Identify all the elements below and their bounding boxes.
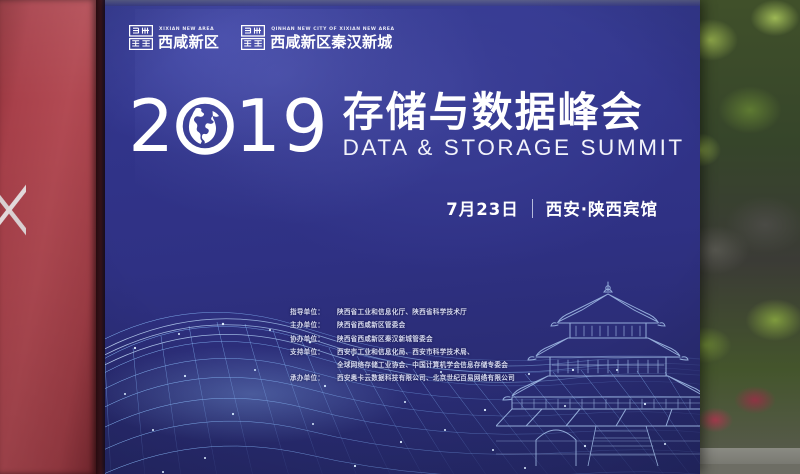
logo-chinese-label: 西咸新区秦汉新城 bbox=[270, 35, 394, 50]
year-digit-suffix: 19 bbox=[235, 94, 329, 159]
red-wall bbox=[0, 0, 96, 474]
main-title-block: 2 19 存储与数据峰会 DATA & STORA bbox=[105, 92, 700, 161]
title-chinese: 存储与数据峰会 bbox=[343, 92, 644, 134]
credit-label: 指导单位： bbox=[290, 306, 337, 319]
sponsor-logo-row: XIXIAN NEW AREA 西咸新区 QINHAN NEW CITY OF … bbox=[129, 25, 395, 50]
credit-value: 陕西省工业和信息化厅、陕西省科学技术厅 bbox=[337, 306, 467, 319]
title-english: DATA & STORAGE SUMMIT bbox=[343, 135, 685, 161]
credit-label: 主办单位： bbox=[290, 319, 337, 332]
wall-marking-icon bbox=[0, 180, 26, 240]
seal-stamp-icon bbox=[241, 25, 265, 50]
wall-banner-gap bbox=[96, 0, 105, 474]
seal-stamp-icon bbox=[129, 25, 153, 50]
logo-xixian-new-area: XIXIAN NEW AREA 西咸新区 bbox=[129, 25, 219, 50]
credit-value: 全球网络存储工业协会、中国计算机学会信息存储专委会 bbox=[337, 359, 508, 372]
year-digit-prefix: 2 bbox=[128, 94, 175, 159]
credit-line: 协办单位： 陕西省西咸新区秦汉新城管委会 bbox=[290, 333, 515, 346]
credit-line: 承办单位： 西安奥卡云数据科技有限公司、北京世纪百易网络有限公司 bbox=[290, 372, 515, 385]
credit-line: 指导单位： 陕西省工业和信息化厅、陕西省科学技术厅 bbox=[290, 306, 515, 319]
credit-label: 协办单位： bbox=[290, 333, 337, 346]
year-lockup: 2 19 bbox=[128, 94, 328, 159]
credit-value: 陕西省西咸新区管委会 bbox=[337, 319, 405, 332]
credit-line: 支持单位： 西安市工业和信息化局、西安市科学技术局、 bbox=[290, 346, 515, 359]
organizer-credits: 指导单位： 陕西省工业和信息化厅、陕西省科学技术厅 主办单位： 陕西省西咸新区管… bbox=[290, 306, 515, 386]
logo-qinhan-new-city: QINHAN NEW CITY OF XIXIAN NEW AREA 西咸新区秦… bbox=[241, 25, 394, 50]
credit-value: 西安奥卡云数据科技有限公司、北京世纪百易网络有限公司 bbox=[337, 372, 515, 385]
credit-value: 陕西省西咸新区秦汉新城管委会 bbox=[337, 333, 433, 346]
credit-label: 支持单位： bbox=[290, 346, 337, 359]
conference-banner: XIXIAN NEW AREA 西咸新区 QINHAN NEW CITY OF … bbox=[105, 0, 700, 474]
event-date: 7月23日 bbox=[446, 196, 518, 220]
photo-scene: XIXIAN NEW AREA 西咸新区 QINHAN NEW CITY OF … bbox=[0, 0, 800, 474]
credit-value: 西安市工业和信息化局、西安市科学技术局、 bbox=[337, 346, 474, 359]
event-venue: 西安·陕西宾馆 bbox=[546, 196, 658, 220]
credit-line-continuation: 支持单位： 全球网络存储工业协会、中国计算机学会信息存储专委会 bbox=[290, 359, 515, 372]
date-venue-divider bbox=[532, 199, 533, 218]
date-venue-row: 7月23日 西安·陕西宾馆 bbox=[446, 196, 658, 220]
credit-line: 主办单位： 陕西省西咸新区管委会 bbox=[290, 319, 515, 332]
credit-label: 承办单位： bbox=[290, 372, 337, 385]
title-text-group: 存储与数据峰会 DATA & STORAGE SUMMIT bbox=[343, 92, 685, 161]
banner-top-edge bbox=[105, 0, 700, 6]
globe-icon bbox=[176, 97, 234, 155]
logo-chinese-label: 西咸新区 bbox=[158, 35, 219, 50]
xian-bell-tower-icon bbox=[496, 276, 700, 466]
